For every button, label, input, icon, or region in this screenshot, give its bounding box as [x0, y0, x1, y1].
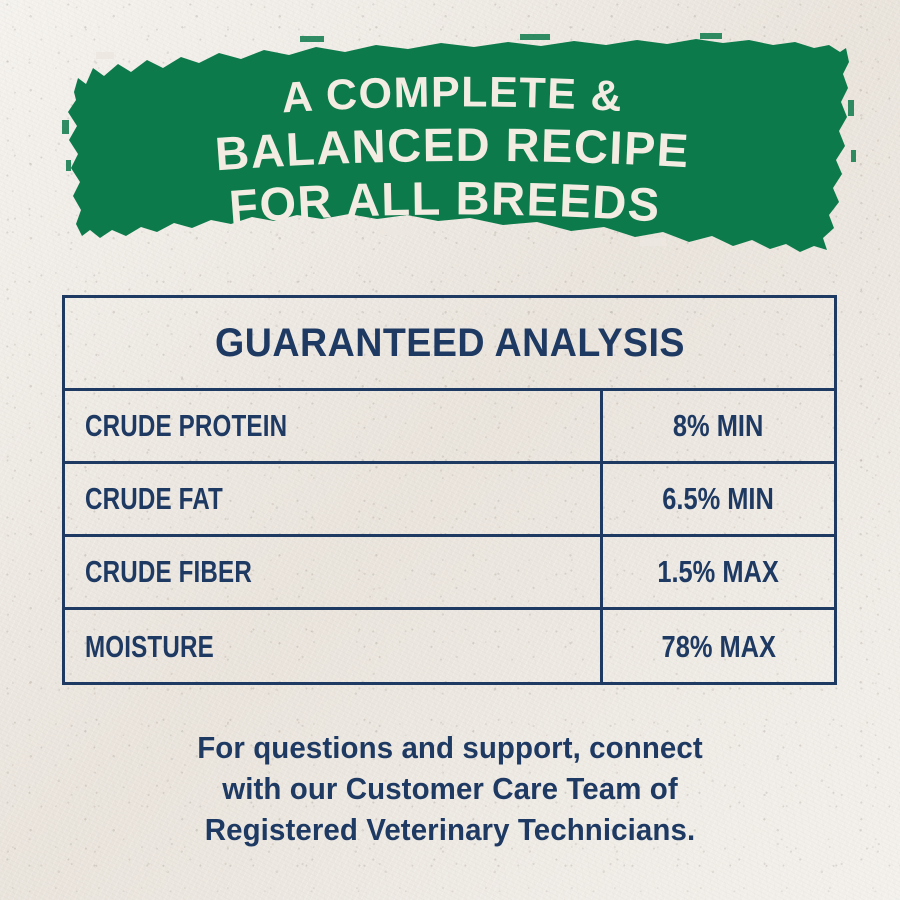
nutrient-label-text: CRUDE FAT — [85, 481, 223, 517]
nutrient-value-cell: 8% MIN — [603, 391, 834, 461]
nutrient-value-cell: 1.5% MAX — [603, 537, 834, 607]
nutrient-label-cell: CRUDE FAT — [65, 464, 603, 534]
guaranteed-analysis-table: GUARANTEED ANALYSIS CRUDE PROTEIN 8% MIN… — [62, 295, 837, 685]
footer-line-2: with our Customer Care Team of — [23, 768, 878, 809]
banner: A COMPLETE & BALANCED RECIPE FOR ALL BRE… — [0, 0, 900, 270]
customer-care-note: For questions and support, connect with … — [0, 727, 900, 850]
nutrient-value-text: 6.5% MIN — [663, 481, 775, 517]
nutrient-label-cell: MOISTURE — [65, 610, 603, 683]
nutrient-value-text: 78% MAX — [661, 629, 775, 665]
nutrient-label-cell: CRUDE PROTEIN — [65, 391, 603, 461]
nutrient-label-cell: CRUDE FIBER — [65, 537, 603, 607]
nutrient-label-text: CRUDE FIBER — [85, 554, 252, 590]
nutrient-value-text: 1.5% MAX — [658, 554, 780, 590]
nutrient-value-text: 8% MIN — [673, 408, 763, 444]
nutrient-label-text: MOISTURE — [85, 629, 214, 665]
table-header-title: GUARANTEED ANALYSIS — [215, 321, 685, 366]
table-row: CRUDE FAT 6.5% MIN — [65, 464, 834, 537]
table-header: GUARANTEED ANALYSIS — [65, 298, 834, 391]
footer-line-1: For questions and support, connect — [23, 727, 878, 768]
banner-line-3: FOR ALL BREEDS — [227, 171, 662, 233]
nutrient-label-text: CRUDE PROTEIN — [85, 408, 287, 444]
footer-line-3: Registered Veterinary Technicians. — [23, 809, 878, 850]
table-row: CRUDE FIBER 1.5% MAX — [65, 537, 834, 610]
table-row: MOISTURE 78% MAX — [65, 610, 834, 683]
banner-line-1: A COMPLETE & — [280, 68, 624, 122]
nutrient-value-cell: 6.5% MIN — [603, 464, 834, 534]
table-row: CRUDE PROTEIN 8% MIN — [65, 391, 834, 464]
nutrient-value-cell: 78% MAX — [603, 610, 834, 683]
